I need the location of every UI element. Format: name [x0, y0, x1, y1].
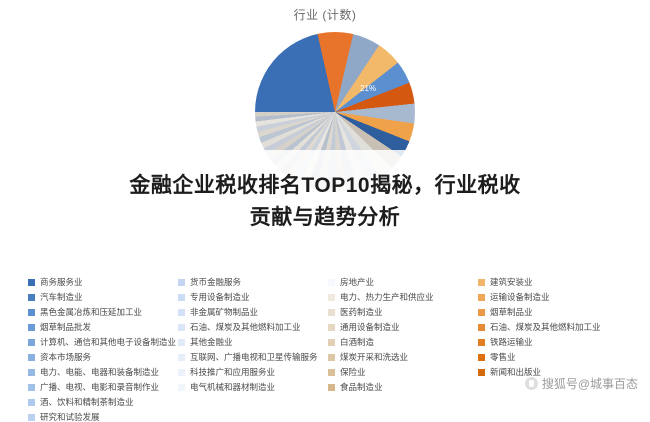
legend-label: 建筑安装业	[490, 278, 533, 287]
legend-item: 房地产业	[328, 278, 478, 287]
legend-item: 煤炭开采和洗选业	[328, 353, 478, 362]
legend-item: 白酒制造	[328, 338, 478, 347]
chart-title: 行业 (计数)	[0, 6, 650, 23]
legend-swatch-icon	[478, 354, 485, 361]
legend-swatch-icon	[178, 309, 185, 316]
legend-item: 通用设备制造业	[328, 323, 478, 332]
legend-item: 电力、电能、电器和装备制造业	[28, 368, 178, 377]
sohu-logo-icon	[525, 377, 538, 390]
legend-swatch-icon	[328, 354, 335, 361]
legend-item: 广播、电视、电影和录音制作业	[28, 383, 178, 392]
legend-swatch-icon	[28, 339, 35, 346]
page-title: 金融企业税收排名TOP10揭秘，行业税收 贡献与趋势分析	[0, 170, 650, 234]
legend-label: 石油、煤炭及其他燃料加工业	[190, 323, 301, 332]
legend-column-1: 商务服务业汽车制造业黑色金属冶炼和压延加工业烟草制品批发计算机、通信和其他电子设…	[28, 278, 178, 422]
legend-item: 运输设备制造业	[478, 293, 628, 302]
legend-label: 计算机、通信和其他电子设备制造业	[40, 338, 176, 347]
legend-label: 医药制造业	[340, 308, 383, 317]
legend-item: 黑色金属冶炼和压延加工业	[28, 308, 178, 317]
legend-swatch-icon	[178, 369, 185, 376]
legend-swatch-icon	[28, 324, 35, 331]
legend-label: 其他金融业	[190, 338, 233, 347]
watermark: 搜狐号@城事百态	[525, 375, 638, 392]
legend-swatch-icon	[178, 339, 185, 346]
legend-label: 研究和试验发展	[40, 413, 100, 422]
legend-item: 建筑安装业	[478, 278, 628, 287]
legend-column-4: 建筑安装业运输设备制造业烟草制品业石油、煤炭及其他燃料加工业铁路运输业零售业新闻…	[478, 278, 628, 422]
legend-swatch-icon	[28, 309, 35, 316]
legend-label: 电力、热力生产和供应业	[340, 293, 434, 302]
legend-label: 电力、电能、电器和装备制造业	[40, 368, 159, 377]
legend-label: 零售业	[490, 353, 516, 362]
legend-swatch-icon	[178, 324, 185, 331]
legend-item: 石油、煤炭及其他燃料加工业	[478, 323, 628, 332]
legend-item: 互联网、广播电视和卫星传输服务	[178, 353, 328, 362]
legend-label: 烟草制品业	[490, 308, 533, 317]
legend-label: 煤炭开采和洗选业	[340, 353, 408, 362]
legend-swatch-icon	[328, 309, 335, 316]
legend-label: 科技推广和应用服务业	[190, 368, 275, 377]
legend-item: 食品制造业	[328, 383, 478, 392]
legend-label: 食品制造业	[340, 383, 383, 392]
chart-legend: 商务服务业汽车制造业黑色金属冶炼和压延加工业烟草制品批发计算机、通信和其他电子设…	[28, 278, 628, 422]
legend-item: 烟草制品业	[478, 308, 628, 317]
legend-item: 其他金融业	[178, 338, 328, 347]
legend-item: 研究和试验发展	[28, 413, 178, 422]
legend-label: 房地产业	[340, 278, 374, 287]
legend-item: 汽车制造业	[28, 293, 178, 302]
legend-swatch-icon	[178, 279, 185, 286]
legend-item: 铁路运输业	[478, 338, 628, 347]
legend-item: 资本市场服务	[28, 353, 178, 362]
legend-column-2: 货币金融服务专用设备制造业非金属矿物制品业石油、煤炭及其他燃料加工业其他金融业互…	[178, 278, 328, 422]
legend-swatch-icon	[28, 294, 35, 301]
legend-swatch-icon	[328, 279, 335, 286]
legend-label: 烟草制品批发	[40, 323, 91, 332]
legend-swatch-icon	[478, 279, 485, 286]
legend-label: 运输设备制造业	[490, 293, 550, 302]
legend-label: 铁路运输业	[490, 338, 533, 347]
watermark-text: 搜狐号@城事百态	[542, 375, 638, 392]
chart-page: 行业 (计数) 21% 金融企业税收排名TOP10揭秘，行业税收 贡献与趋势分析…	[0, 0, 650, 400]
legend-item: 非金属矿物制品业	[178, 308, 328, 317]
legend-swatch-icon	[178, 294, 185, 301]
headline-line-2: 贡献与趋势分析	[0, 202, 650, 234]
legend-swatch-icon	[28, 384, 35, 391]
legend-swatch-icon	[328, 339, 335, 346]
legend-swatch-icon	[28, 369, 35, 376]
pie-data-label: 21%	[360, 84, 376, 93]
legend-label: 电气机械和器材制造业	[190, 383, 275, 392]
legend-swatch-icon	[178, 354, 185, 361]
legend-item: 烟草制品批发	[28, 323, 178, 332]
legend-swatch-icon	[328, 384, 335, 391]
legend-item: 酒、饮料和精制茶制造业	[28, 398, 178, 407]
legend-item: 石油、煤炭及其他燃料加工业	[178, 323, 328, 332]
legend-item: 专用设备制造业	[178, 293, 328, 302]
legend-label: 石油、煤炭及其他燃料加工业	[490, 323, 601, 332]
legend-swatch-icon	[28, 279, 35, 286]
legend-item: 保险业	[328, 368, 478, 377]
legend-label: 非金属矿物制品业	[190, 308, 258, 317]
legend-swatch-icon	[478, 324, 485, 331]
legend-label: 广播、电视、电影和录音制作业	[40, 383, 159, 392]
legend-label: 货币金融服务	[190, 278, 241, 287]
legend-item: 货币金融服务	[178, 278, 328, 287]
legend-item: 商务服务业	[28, 278, 178, 287]
headline-line-1: 金融企业税收排名TOP10揭秘，行业税收	[0, 170, 650, 202]
legend-item: 电气机械和器材制造业	[178, 383, 328, 392]
legend-item: 电力、热力生产和供应业	[328, 293, 478, 302]
legend-label: 保险业	[340, 368, 366, 377]
legend-swatch-icon	[328, 324, 335, 331]
legend-swatch-icon	[328, 294, 335, 301]
legend-swatch-icon	[28, 354, 35, 361]
legend-label: 黑色金属冶炼和压延加工业	[40, 308, 142, 317]
legend-label: 专用设备制造业	[190, 293, 250, 302]
legend-label: 汽车制造业	[40, 293, 83, 302]
legend-label: 商务服务业	[40, 278, 83, 287]
legend-swatch-icon	[28, 399, 35, 406]
legend-column-3: 房地产业电力、热力生产和供应业医药制造业通用设备制造业白酒制造煤炭开采和洗选业保…	[328, 278, 478, 422]
legend-swatch-icon	[478, 369, 485, 376]
legend-swatch-icon	[478, 309, 485, 316]
legend-label: 白酒制造	[340, 338, 374, 347]
legend-label: 互联网、广播电视和卫星传输服务	[190, 353, 318, 362]
legend-item: 医药制造业	[328, 308, 478, 317]
legend-label: 通用设备制造业	[340, 323, 400, 332]
legend-swatch-icon	[478, 339, 485, 346]
legend-item: 科技推广和应用服务业	[178, 368, 328, 377]
legend-swatch-icon	[328, 369, 335, 376]
legend-swatch-icon	[28, 414, 35, 421]
legend-label: 资本市场服务	[40, 353, 91, 362]
legend-item: 计算机、通信和其他电子设备制造业	[28, 338, 178, 347]
legend-item: 零售业	[478, 353, 628, 362]
legend-swatch-icon	[478, 294, 485, 301]
legend-swatch-icon	[178, 384, 185, 391]
legend-label: 酒、饮料和精制茶制造业	[40, 398, 134, 407]
